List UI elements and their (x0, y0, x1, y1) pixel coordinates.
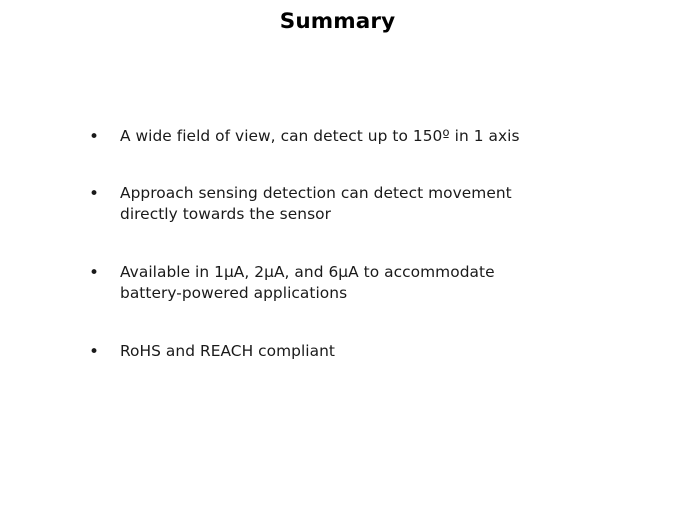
bullet-point-icon: • (89, 341, 99, 363)
bullet-list: • A wide field of view, can detect up to… (86, 126, 626, 362)
presentation-slide: Summary • A wide field of view, can dete… (0, 0, 675, 506)
bullet-point-icon: • (89, 183, 99, 205)
list-item-text: A wide field of view, can detect up to 1… (120, 126, 626, 148)
bullet-point-icon: • (89, 262, 99, 284)
list-item-text: Available in 1µA, 2µA, and 6µA to accomm… (120, 262, 626, 305)
list-item: • Available in 1µA, 2µA, and 6µA to acco… (86, 262, 626, 305)
list-item: • A wide field of view, can detect up to… (86, 126, 626, 148)
list-item: • RoHS and REACH compliant (86, 341, 626, 363)
page-title: Summary (0, 9, 675, 35)
list-item-text: Approach sensing detection can detect mo… (120, 183, 626, 226)
list-item: • Approach sensing detection can detect … (86, 183, 626, 226)
list-item-text: RoHS and REACH compliant (120, 341, 626, 363)
bullet-point-icon: • (89, 126, 99, 148)
